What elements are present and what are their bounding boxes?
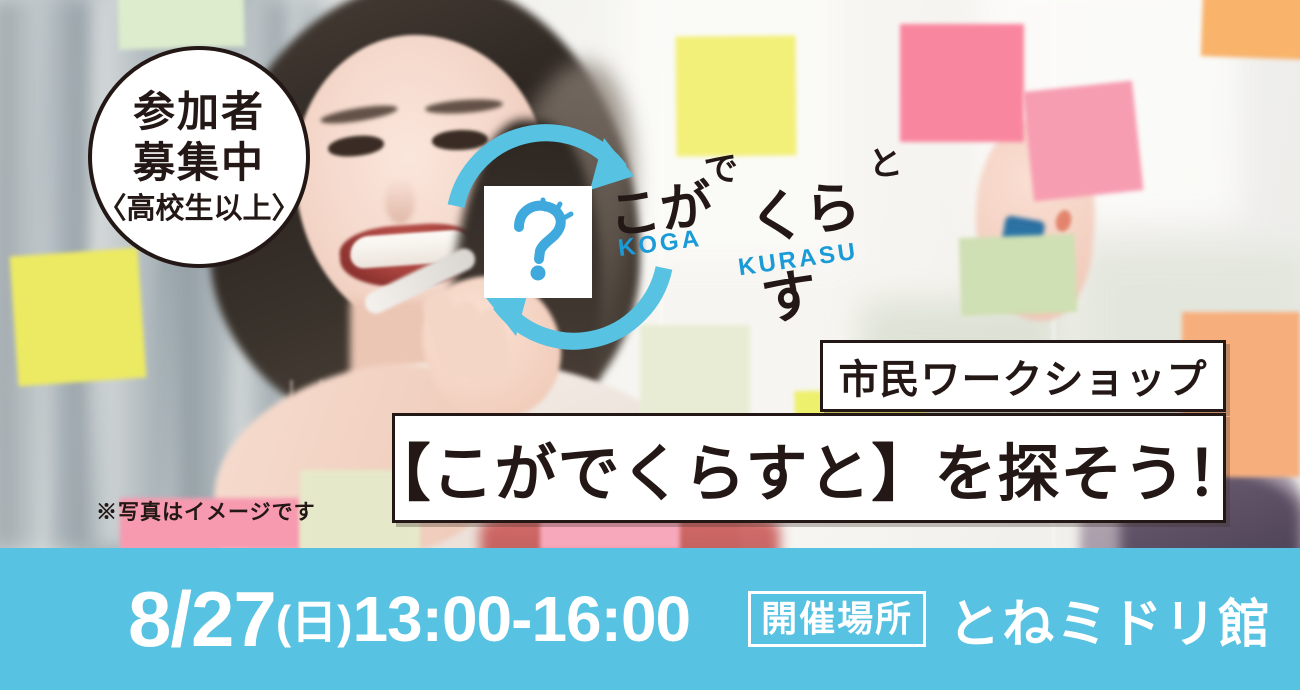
question-card	[484, 186, 592, 298]
badge-line-2: 募集中	[133, 142, 265, 184]
koga-kurasu-logo: こが で くらす と KOGA KURASU	[432, 118, 912, 358]
photo-disclaimer: ※写真はイメージです	[96, 496, 316, 526]
recruitment-badge: 参加者 募集中 〈高校生以上〉	[88, 46, 310, 268]
note-green-top	[117, 0, 245, 50]
event-info-bar: 8/27 (日) 13:00-16:00 開催場所 とねミドリ館	[0, 548, 1300, 690]
note-green-hand	[959, 234, 1078, 316]
main-title-box: 【こがでくらすと】を探そう！	[392, 413, 1226, 523]
event-day-of-week: (日)	[276, 586, 353, 652]
logo-text-to: と	[866, 135, 904, 187]
nose	[385, 178, 415, 224]
venue-name: とねミドリ館	[948, 582, 1272, 657]
badge-line-3: 〈高校生以上〉	[97, 195, 300, 224]
question-mark-icon	[499, 197, 577, 287]
badge-line-1: 参加者	[133, 91, 265, 133]
note-yellow-left	[10, 248, 147, 387]
venue-label: 開催場所	[748, 591, 926, 647]
event-date: 8/27	[128, 580, 276, 658]
event-banner: 参加者 募集中 〈高校生以上〉 こが で くらす と KOGA KURASU	[0, 0, 1300, 690]
note-pink-top	[900, 24, 1024, 142]
note-orange-top	[1201, 0, 1300, 60]
subtitle-box: 市民ワークショップ	[820, 340, 1226, 412]
logo-text-de: で	[702, 140, 741, 192]
event-time: 13:00-16:00	[352, 582, 690, 656]
note-pink-hand	[1023, 81, 1144, 202]
